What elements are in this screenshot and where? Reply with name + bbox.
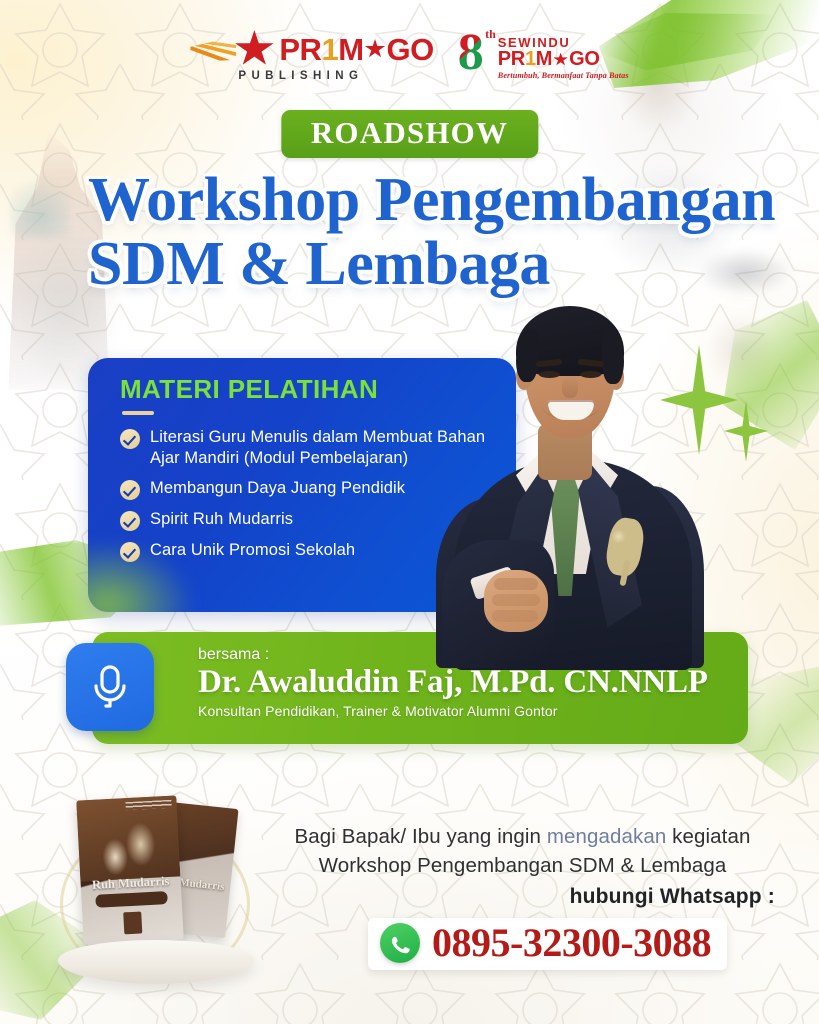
book-mockup: Ruh Mudarris Ruh Mudarris <box>54 790 264 990</box>
check-icon <box>120 542 140 562</box>
speaker-role: Konsultan Pendidikan, Trainer & Motivato… <box>198 703 732 719</box>
logo-row: PR1MGO PUBLISHING 8 th SEWINDU PR1MGO Be… <box>0 30 819 82</box>
publisher-tagline: PUBLISHING <box>238 70 363 82</box>
whatsapp-icon <box>380 923 420 963</box>
sw-go: GO <box>569 49 600 70</box>
knuckle-line-2 <box>492 594 540 606</box>
wordmark-go: GO <box>387 34 434 65</box>
knuckle-line-1 <box>494 578 538 590</box>
whatsapp-contact[interactable]: 0895-32300-3088 <box>368 918 727 970</box>
speaker-portrait <box>432 272 704 664</box>
hair-side-left <box>516 330 538 382</box>
number-eight: 8 <box>458 24 484 81</box>
sw-pr: PR <box>498 49 525 70</box>
check-icon <box>120 429 140 449</box>
sw-1: 1 <box>525 49 536 70</box>
swoosh-icon <box>190 36 236 62</box>
ordinal-suffix: th <box>485 30 496 40</box>
wordmark-1: 1 <box>321 34 338 65</box>
anniversary-motto: Bertumbuh, Bermanfaat Tanpa Batas <box>498 71 629 80</box>
cta-l1-highlight: mengadakan <box>547 825 667 848</box>
cta-line-1: Bagi Bapak/ Ibu yang ingin mengadakan ke… <box>260 822 785 851</box>
star-icon-inline <box>365 39 386 59</box>
book-subtitle-band <box>95 891 168 908</box>
heading-underline <box>122 411 154 415</box>
list-item-label: Cara Unik Promosi Sekolah <box>150 540 355 561</box>
check-icon <box>120 511 140 531</box>
speaker-name: Dr. Awaluddin Faj, M.Pd. CN.NNLP <box>198 665 732 701</box>
sewindu-wordmark: PR1MGO <box>498 49 629 70</box>
cta-l1-a: Bagi Bapak/ Ibu yang ingin <box>295 825 547 848</box>
cta-l1-c: kegiatan <box>666 825 750 848</box>
poster-canvas: PR1MGO PUBLISHING 8 th SEWINDU PR1MGO Be… <box>0 0 819 1024</box>
eye-right <box>580 371 601 378</box>
whatsapp-number[interactable]: 0895-32300-3088 <box>432 923 711 963</box>
cta-line-3: hubungi Whatsapp : <box>260 885 785 909</box>
primago-wordmark: PR1MGO <box>279 34 433 65</box>
wordmark-pr: PR <box>279 34 321 65</box>
title-line-1: Workshop Pengembangan <box>88 166 775 234</box>
primago-publishing-logo: PR1MGO PUBLISHING <box>190 30 433 82</box>
call-to-action: Bagi Bapak/ Ibu yang ingin mengadakan ke… <box>260 822 785 909</box>
star-icon-inline-2 <box>553 53 568 67</box>
book-publisher-seal <box>123 911 142 934</box>
anniversary-number: 8 th <box>458 32 484 75</box>
wordmark-m: M <box>338 34 363 65</box>
roadshow-badge: ROADSHOW <box>281 110 538 158</box>
list-item-label: Membangun Daya Juang Pendidik <box>150 478 405 499</box>
sewindu-anniversary-logo: 8 th SEWINDU PR1MGO Bertumbuh, Bermanfaa… <box>458 32 629 80</box>
star-icon <box>234 30 274 68</box>
sw-m: M <box>536 49 552 70</box>
eye-left <box>539 371 560 378</box>
microphone-icon <box>66 643 154 731</box>
book-cover-front: Ruh Mudarris <box>76 795 183 944</box>
check-icon <box>120 480 140 500</box>
cta-line-2: Workshop Pengembangan SDM & Lembaga <box>260 851 785 880</box>
knuckle-line-3 <box>492 610 538 622</box>
list-item-label: Spirit Ruh Mudarris <box>150 509 293 530</box>
display-podium <box>58 940 254 984</box>
